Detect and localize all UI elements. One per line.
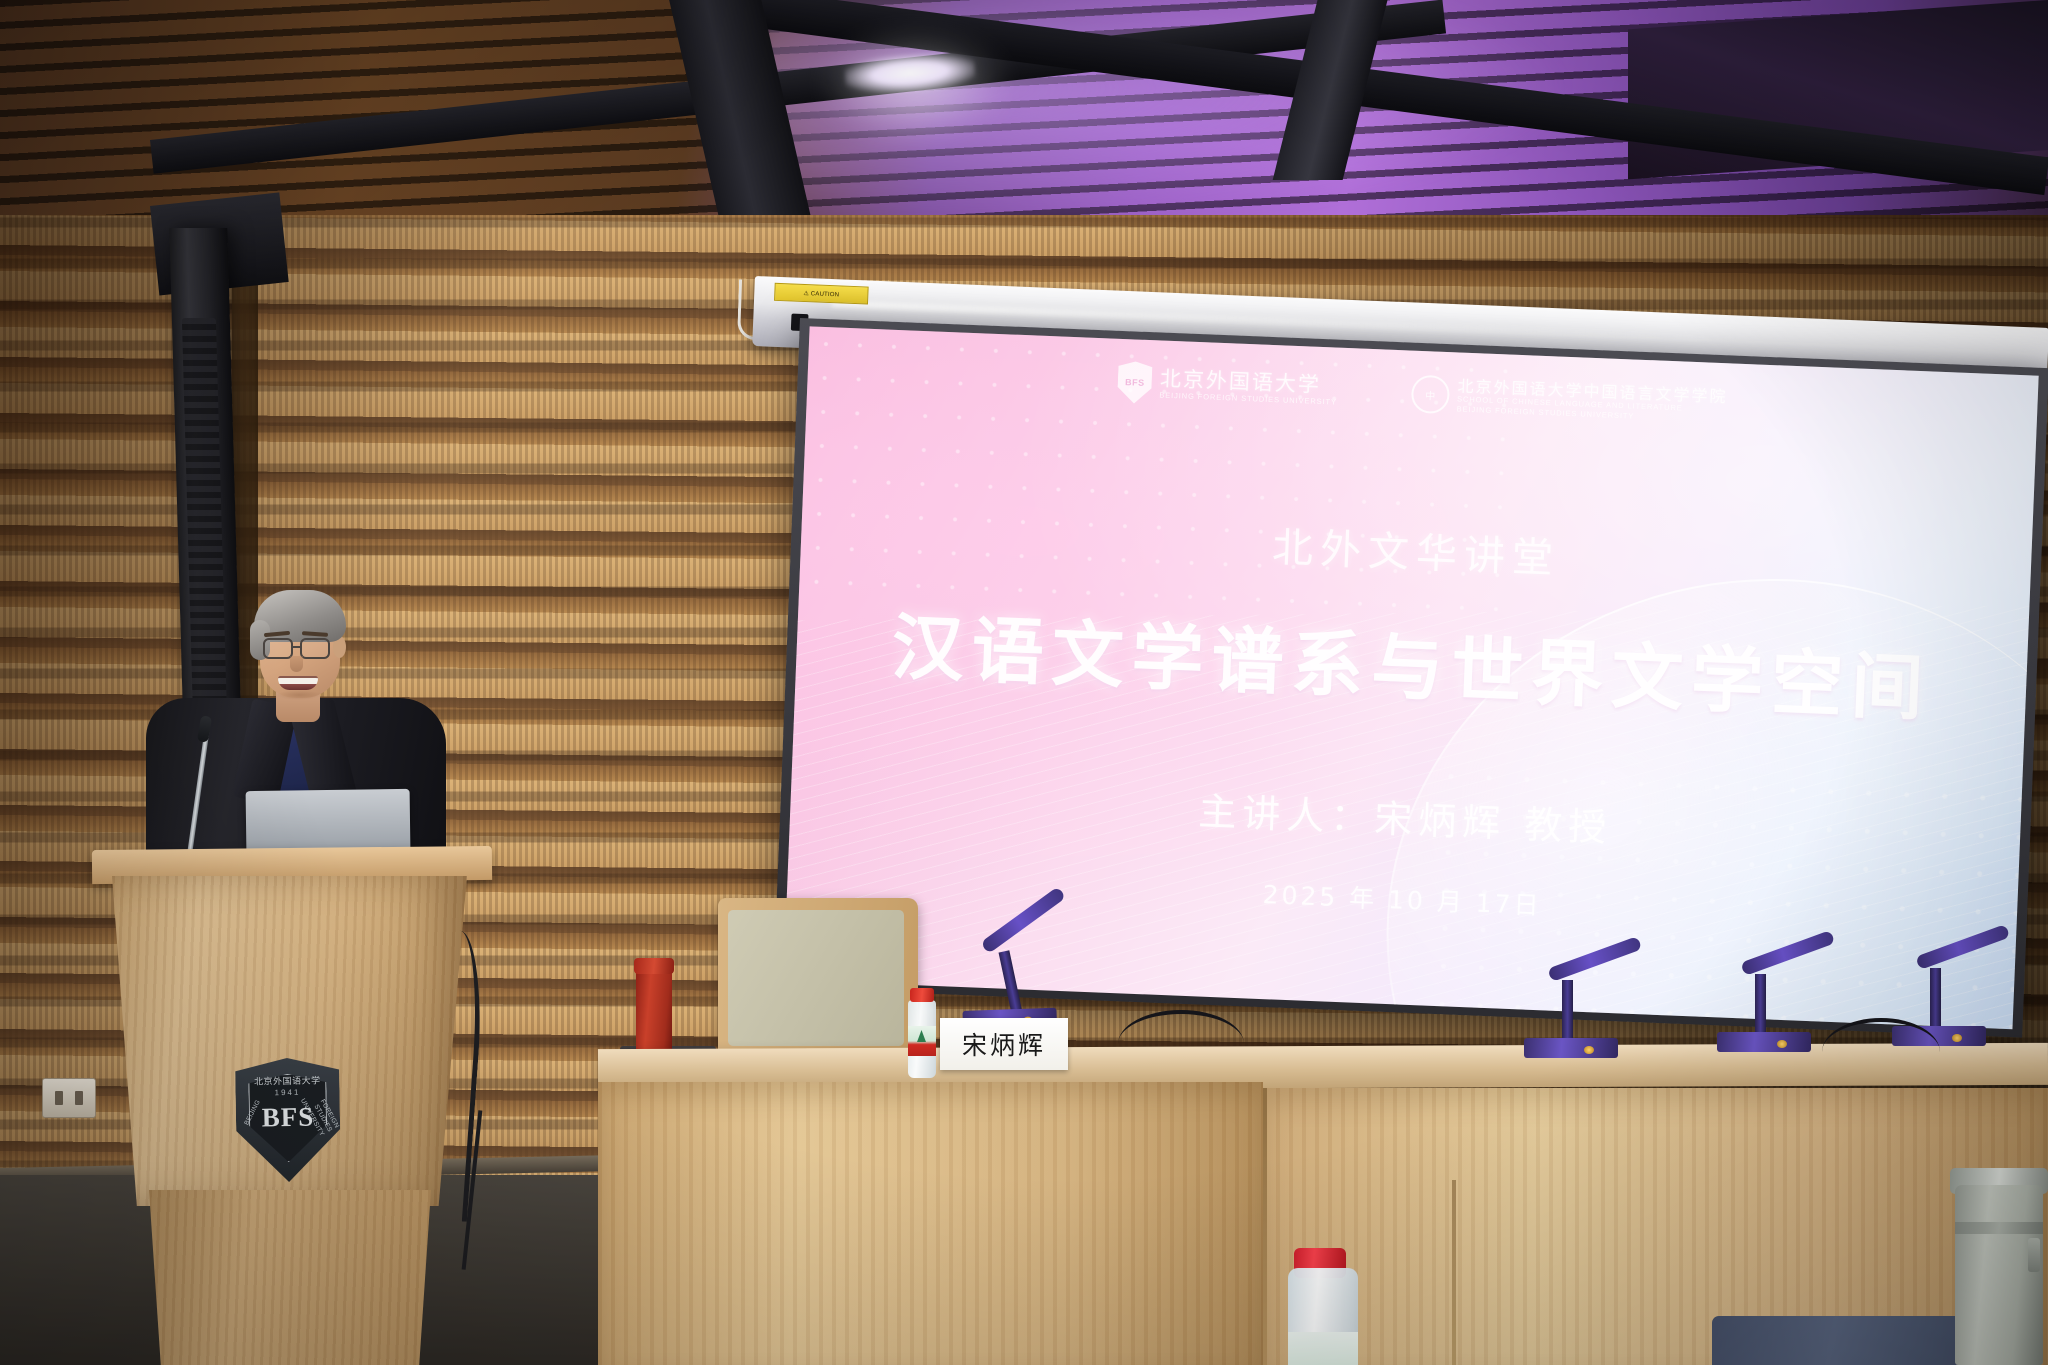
mic-stem (1930, 968, 1941, 1030)
name-card-text: 宋炳辉 (962, 1026, 1046, 1062)
school-seal-logo-icon: 中 (1411, 375, 1450, 414)
wall-power-outlet[interactable] (42, 1078, 96, 1118)
red-thermos-cap (634, 958, 674, 974)
podium-base (140, 1190, 440, 1365)
projection-screen-frame: BFS 北京外国语大学 BEIJING FOREIGN STUDIES UNIV… (773, 318, 2048, 1038)
emblem-cn-text: 北京外国语大学 (235, 1073, 339, 1088)
lecture-hall-photo: ⚠ CAUTION BFS 北京外国语大学 BEIJING FOREIGN ST… (0, 0, 2048, 1365)
presider-chair (718, 898, 918, 1056)
head-table-front-left (598, 1082, 1263, 1365)
mic-base (1524, 1038, 1618, 1058)
mic-base (1717, 1032, 1811, 1052)
thermos-clip (2028, 1238, 2040, 1272)
chair-cushion (728, 910, 904, 1046)
shield-mark: BFS (1125, 377, 1145, 388)
mic-stem (1562, 980, 1573, 1042)
speaker-nose (290, 656, 303, 672)
mic-led-icon (1952, 1034, 1962, 1042)
logo-university: BFS 北京外国语大学 BEIJING FOREIGN STUDIES UNIV… (1117, 361, 1338, 412)
name-card: 宋炳辉 (940, 1018, 1068, 1070)
thermos-band (1955, 1222, 2043, 1234)
speaker-chin-shadow (276, 690, 322, 700)
table-panel-seam (1452, 1180, 1456, 1365)
foreground-bottle-label (1288, 1332, 1358, 1365)
speaker-mouth (278, 676, 318, 690)
glasses-icon (263, 638, 293, 659)
mic-led-icon (1777, 1040, 1787, 1048)
wood-grain (598, 1082, 1263, 1365)
seal-mark: 中 (1425, 387, 1436, 402)
laptop[interactable] (246, 789, 411, 853)
warning-label: ⚠ CAUTION (774, 283, 869, 305)
ceiling (0, 0, 2048, 250)
glasses-icon (300, 638, 330, 659)
projection-screen: BFS 北京外国语大学 BEIJING FOREIGN STUDIES UNIV… (783, 326, 2038, 1029)
mic-stem (1755, 974, 1766, 1036)
logo-school-text: 北京外国语大学中国语言文学学院 SCHOOL OF CHINESE LANGUA… (1457, 377, 1728, 424)
mic-led-icon (1584, 1046, 1594, 1054)
water-bottle-cap (910, 988, 934, 1002)
glasses-bridge (293, 646, 302, 648)
steel-thermos (1955, 1185, 2043, 1365)
table-panel-seam (1263, 1088, 1267, 1365)
logo-university-text: 北京外国语大学 BEIJING FOREIGN STUDIES UNIVERSI… (1159, 368, 1338, 407)
bfs-shield-emblem-icon: 北京外国语大学 1941 BFS BEIJING FOREIGN STUDIES… (235, 1057, 341, 1183)
wood-grain (140, 1190, 440, 1365)
bfs-shield-logo-icon: BFS (1117, 361, 1153, 404)
